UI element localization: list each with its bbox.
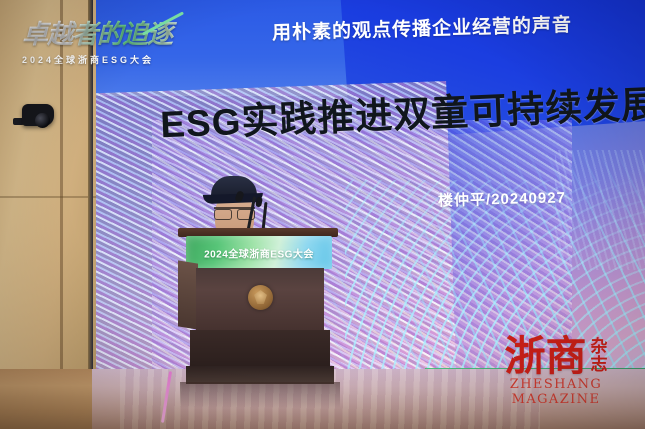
podium-sign-text: 2024全球浙商ESG大会 bbox=[204, 245, 314, 260]
magazine-logo-cn-top: 杂 bbox=[591, 339, 608, 356]
conference-logo-subtitle: 2024全球浙商ESG大会 bbox=[22, 53, 187, 66]
screen-right-graphic bbox=[555, 150, 645, 270]
podium-shadow bbox=[180, 382, 340, 408]
magazine-logo-row: 浙商 杂 志 bbox=[481, 337, 631, 376]
magazine-logo-en: ZHESHANG MAGAZINE bbox=[481, 377, 631, 407]
magazine-logo: 浙商 杂 志 ZHESHANG MAGAZINE bbox=[481, 337, 631, 407]
podium-sign: 2024全球浙商ESG大会 bbox=[186, 236, 332, 269]
magazine-logo-cn-secondary: 杂 志 bbox=[591, 339, 608, 374]
security-camera-icon bbox=[22, 104, 54, 126]
podium-base bbox=[190, 330, 330, 370]
screen-byline: 楼仲平/20240927 bbox=[438, 186, 566, 210]
conference-logo-script: 卓越者的追逐 bbox=[22, 14, 187, 51]
conference-logo: 卓越者的追逐 2024全球浙商ESG大会 bbox=[22, 14, 187, 66]
photo-stage: 用朴素的观点传播企业经营的声音 ESG实践推进双童可持续发展 楼仲平/20240… bbox=[0, 0, 645, 429]
podium-side-panel bbox=[178, 260, 198, 329]
wall-seam-horizontal bbox=[0, 196, 96, 198]
magazine-logo-cn-main: 浙商 bbox=[505, 337, 587, 376]
magazine-logo-cn-bottom: 志 bbox=[591, 357, 608, 374]
podium-emblem-icon bbox=[248, 285, 273, 310]
